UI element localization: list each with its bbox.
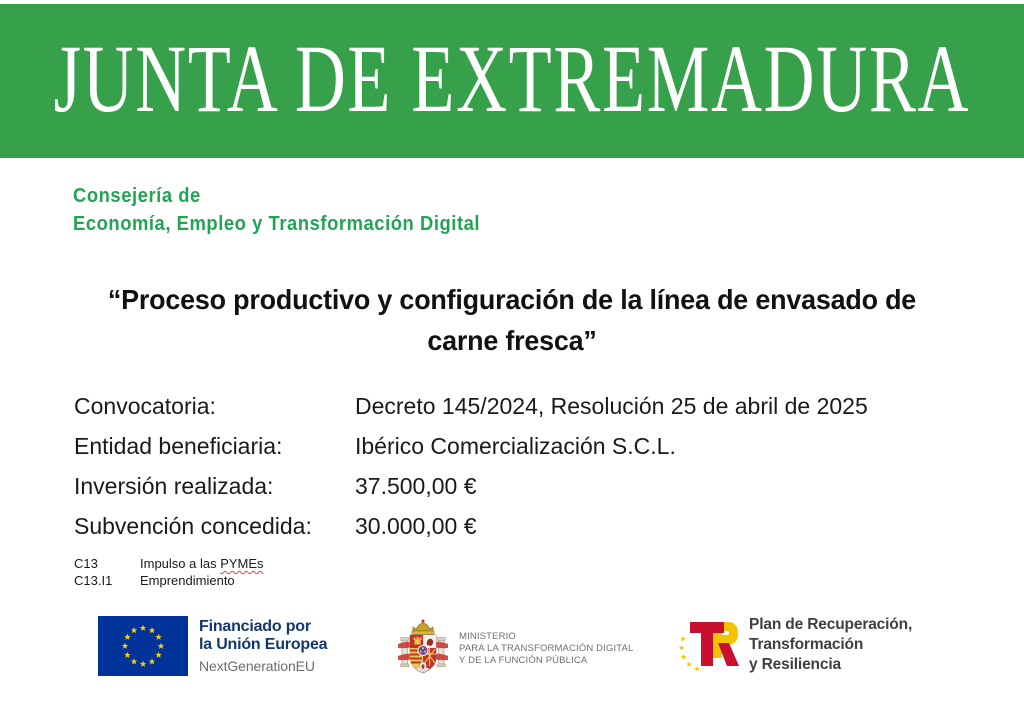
prtr-logo: Plan de Recuperación, Transformación y R… bbox=[678, 614, 912, 676]
eu-flag-icon bbox=[98, 616, 188, 676]
code-description-text: Impulso a las bbox=[140, 556, 220, 571]
code-row-c13: C13 Impulso a las PYMEs bbox=[74, 555, 264, 572]
prtr-line-1: Plan de Recuperación, bbox=[749, 615, 912, 635]
ministry-logo: MINISTERIO PARA LA TRANSFORMACIÓN DIGITA… bbox=[396, 618, 633, 680]
consejeria-line-1: Consejería de bbox=[73, 182, 480, 210]
detail-label: Convocatoria: bbox=[74, 386, 355, 426]
eu-funding-text: Financiado por la Unión Europea NextGene… bbox=[199, 618, 327, 674]
detail-row-subvencion-concedida: Subvención concedida: 30.000,00 € bbox=[74, 506, 868, 546]
prtr-line-2: Transformación bbox=[749, 635, 912, 655]
header-banner: JUNTA DE EXTREMADURA bbox=[0, 4, 1024, 158]
spain-coat-of-arms-icon bbox=[396, 618, 450, 680]
consejeria-block: Consejería de Economía, Empleo y Transfo… bbox=[73, 182, 480, 238]
eu-nextgeneration-label: NextGenerationEU bbox=[199, 658, 327, 674]
project-details-list: Convocatoria: Decreto 145/2024, Resoluci… bbox=[74, 386, 868, 546]
detail-value: Decreto 145/2024, Resolución 25 de abril… bbox=[355, 386, 868, 426]
ministry-text: MINISTERIO PARA LA TRANSFORMACIÓN DIGITA… bbox=[459, 631, 633, 667]
prtr-line-3: y Resiliencia bbox=[749, 655, 912, 675]
code-id: C13 bbox=[74, 555, 140, 572]
component-codes-block: C13 Impulso a las PYMEs C13.I1 Emprendim… bbox=[74, 555, 264, 589]
spellcheck-flagged-word: PYMEs bbox=[220, 556, 263, 571]
detail-row-convocatoria: Convocatoria: Decreto 145/2024, Resoluci… bbox=[74, 386, 868, 426]
project-title: “Proceso productivo y configuración de l… bbox=[80, 279, 944, 361]
ministry-line-3: Y DE LA FUNCIÓN PÚBLICA bbox=[459, 655, 633, 667]
detail-label: Entidad beneficiaria: bbox=[74, 426, 355, 466]
consejeria-line-2: Economía, Empleo y Transformación Digita… bbox=[73, 210, 480, 238]
ministry-line-1: MINISTERIO bbox=[459, 631, 633, 643]
organization-title: JUNTA DE EXTREMADURA bbox=[54, 31, 970, 132]
code-description: Impulso a las PYMEs bbox=[140, 555, 264, 572]
code-description: Emprendimiento bbox=[140, 572, 235, 589]
eu-line-1: Financiado por bbox=[199, 618, 327, 636]
detail-value: Ibérico Comercialización S.C.L. bbox=[355, 426, 676, 466]
prtr-tr-monogram-icon bbox=[678, 614, 740, 676]
prtr-text: Plan de Recuperación, Transformación y R… bbox=[749, 615, 912, 675]
detail-value: 30.000,00 € bbox=[355, 506, 477, 546]
detail-row-entidad-beneficiaria: Entidad beneficiaria: Ibérico Comerciali… bbox=[74, 426, 868, 466]
eu-line-2: la Unión Europea bbox=[199, 636, 327, 654]
detail-value: 37.500,00 € bbox=[355, 466, 477, 506]
detail-row-inversion-realizada: Inversión realizada: 37.500,00 € bbox=[74, 466, 868, 506]
code-row-c13-i1: C13.I1 Emprendimiento bbox=[74, 572, 264, 589]
detail-label: Subvención concedida: bbox=[74, 506, 355, 546]
code-id: C13.I1 bbox=[74, 572, 140, 589]
footer-logo-strip: Financiado por la Unión Europea NextGene… bbox=[0, 608, 1024, 688]
ministry-line-2: PARA LA TRANSFORMACIÓN DIGITAL bbox=[459, 643, 633, 655]
eu-funding-logo: Financiado por la Unión Europea NextGene… bbox=[98, 616, 327, 676]
detail-label: Inversión realizada: bbox=[74, 466, 355, 506]
